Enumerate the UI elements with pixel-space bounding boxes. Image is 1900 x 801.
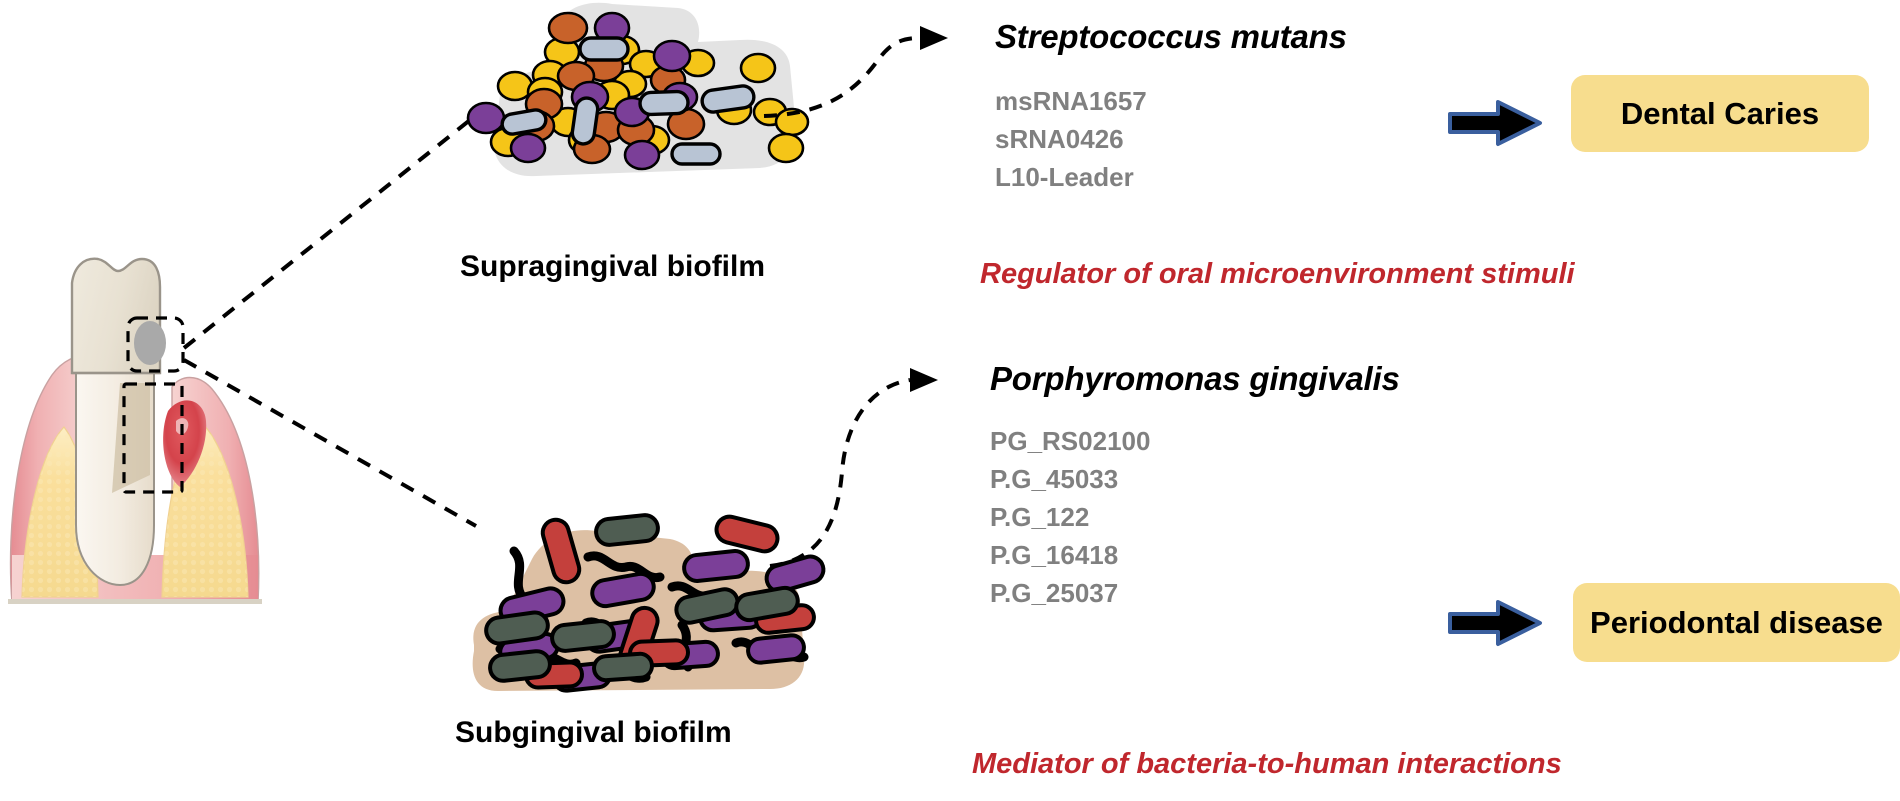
gene-item: msRNA1657 xyxy=(995,82,1147,120)
outcome-box-dental-caries[interactable]: Dental Caries xyxy=(1571,75,1869,152)
gene-item: P.G_122 xyxy=(990,498,1150,536)
gene-list-supragingival: msRNA1657 sRNA0426 L10-Leader xyxy=(995,82,1147,196)
curved-arrow-subgingival xyxy=(760,360,990,580)
species-name-streptococcus: Streptococcus mutans xyxy=(995,18,1347,56)
gene-item: sRNA0426 xyxy=(995,120,1147,158)
subgingival-biofilm-label: Subgingival biofilm xyxy=(455,716,732,750)
gene-item: P.G_16418 xyxy=(990,536,1150,574)
curved-arrow-supragingival xyxy=(760,20,990,140)
gene-item: P.G_45033 xyxy=(990,460,1150,498)
supragingival-biofilm-label: Supragingival biofilm xyxy=(460,250,765,284)
gene-item: P.G_25037 xyxy=(990,574,1150,612)
leader-line-subgingival xyxy=(150,330,480,590)
outcome-label: Periodontal disease xyxy=(1590,605,1883,641)
species-name-porphyromonas: Porphyromonas gingivalis xyxy=(990,360,1400,398)
gene-item: PG_RS02100 xyxy=(990,422,1150,460)
block-arrow-right-icon xyxy=(1448,600,1544,646)
gene-item: L10-Leader xyxy=(995,158,1147,196)
block-arrow-right-icon xyxy=(1448,100,1544,146)
gene-list-subgingival: PG_RS02100 P.G_45033 P.G_122 P.G_16418 P… xyxy=(990,422,1150,612)
outcome-box-periodontal-disease[interactable]: Periodontal disease xyxy=(1573,583,1900,662)
outcome-label: Dental Caries xyxy=(1621,96,1819,132)
figure-canvas: Supragingival biofilm Streptococcus muta… xyxy=(0,0,1900,801)
caption-mediator: Mediator of bacteria-to-human interactio… xyxy=(972,748,1562,781)
caption-regulator: Regulator of oral microenvironment stimu… xyxy=(980,258,1575,291)
